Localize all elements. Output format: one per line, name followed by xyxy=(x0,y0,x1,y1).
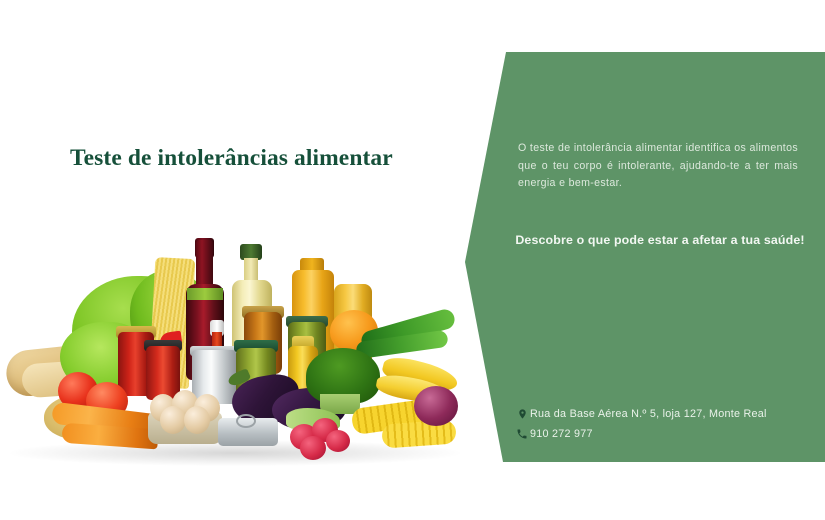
contact-address-text: Rua da Base Aérea N.º 5, loja 127, Monte… xyxy=(530,408,767,420)
red-onion-icon xyxy=(414,386,458,426)
sardine-tin-ring-icon xyxy=(236,414,256,428)
map-pin-icon xyxy=(514,406,530,422)
panel-text-block: O teste de intolerância alimentar identi… xyxy=(518,140,798,193)
page-title: Teste de intolerâncias alimentar xyxy=(70,145,470,172)
wine-label-icon xyxy=(187,288,223,300)
phone-icon xyxy=(514,426,530,442)
radish-icon xyxy=(300,436,326,460)
panel-shape xyxy=(465,52,825,462)
sauce-jar-icon xyxy=(146,346,180,400)
contact-block: Rua da Base Aérea N.º 5, loja 127, Monte… xyxy=(514,404,814,444)
contact-phone-text: 910 272 977 xyxy=(530,428,593,440)
panel-paragraph: O teste de intolerância alimentar identi… xyxy=(518,140,798,193)
egg-icon xyxy=(160,406,186,434)
assorted-foods-image xyxy=(0,236,470,468)
radish-icon xyxy=(326,430,350,452)
contact-phone-row[interactable]: 910 272 977 xyxy=(514,424,814,443)
panel-headline: Descobre o que pode estar a afetar a tua… xyxy=(510,230,810,250)
egg-icon xyxy=(184,406,210,434)
left-section: Teste de intolerâncias alimentar xyxy=(0,0,500,520)
contact-address-row[interactable]: Rua da Base Aérea N.º 5, loja 127, Monte… xyxy=(514,404,814,423)
